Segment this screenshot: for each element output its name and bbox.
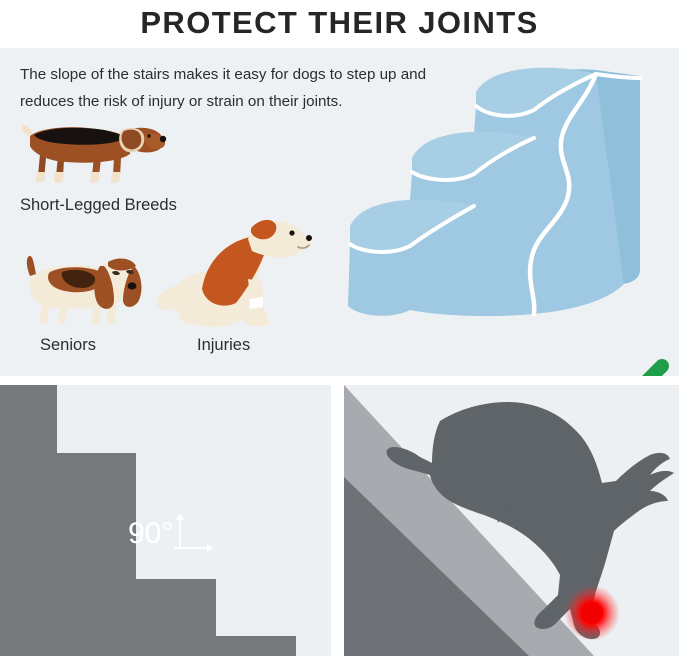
dog-jumping-ramp-silhouette [344,385,679,656]
dog-label-seniors: Seniors [40,336,96,355]
green-checkmark-icon [586,358,670,376]
sitting-dog-icon [152,211,317,331]
dachshund-dog-icon [18,114,168,186]
dog-jumping-ramp-panel [344,385,679,656]
top-info-panel: The slope of the stairs makes it easy fo… [0,48,679,376]
page-title-bar: PROTECT THEIR JOINTS [0,0,679,45]
angle-annotation-text: 90° [128,517,173,550]
three-step-pet-stairs-illustration [328,48,673,348]
page-title: PROTECT THEIR JOINTS [140,5,538,41]
steep-staircase-panel: 90° [0,385,331,656]
basset-hound-dog-icon [16,244,156,330]
dog-label-injuries: Injuries [197,336,250,355]
staircase-silhouette: 90° [0,385,331,656]
